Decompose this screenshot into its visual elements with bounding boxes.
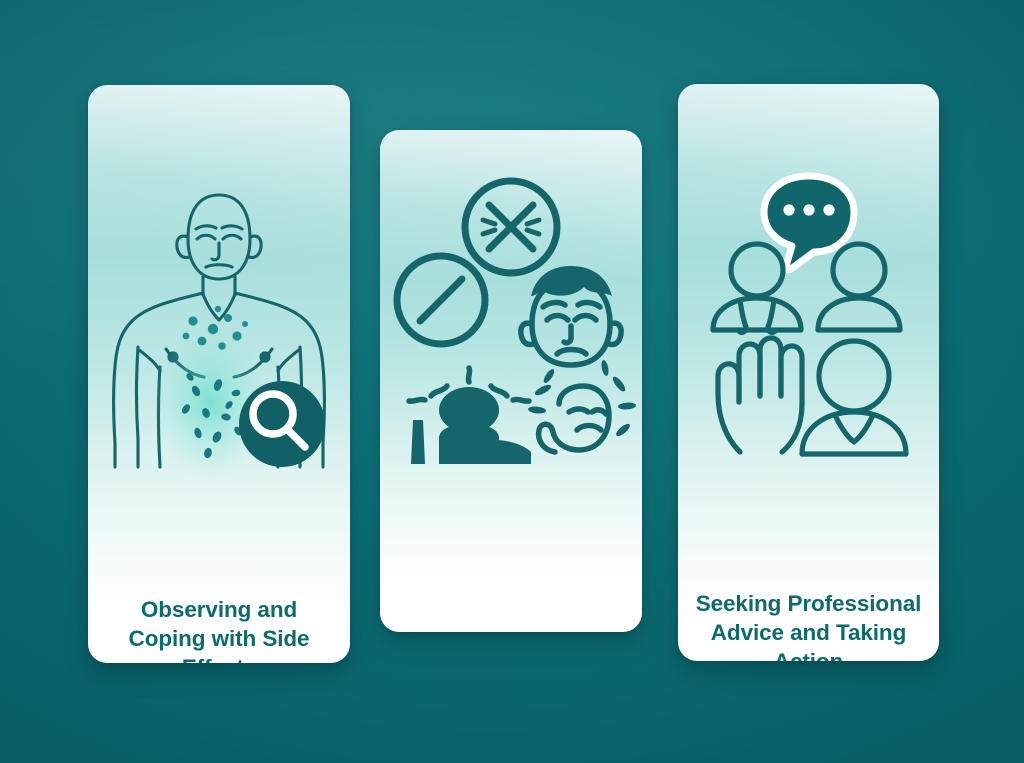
card-3-title: Seeking Professional Advice and Taking A… — [678, 589, 939, 661]
card-3-illustration — [678, 164, 939, 459]
person-outline-icon — [818, 244, 900, 330]
prohibition-slash-circle-icon — [397, 256, 485, 344]
card-1-title: Observing and Coping with Side Effects — [88, 595, 350, 663]
magnifier-badge-icon[interactable] — [239, 381, 325, 467]
card-seeking-professional-advice[interactable]: Seeking Professional Advice and Taking A… — [678, 84, 939, 661]
card-observing-side-effects[interactable]: Observing and Coping with Side Effects — [88, 85, 350, 663]
infographic-canvas: Observing and Coping with Side Effects — [0, 0, 1024, 763]
sad-face-icon — [521, 266, 621, 365]
prohibition-cross-circle-icon — [465, 181, 557, 273]
raised-hand-icon — [718, 338, 802, 452]
headache-person-icon — [409, 368, 531, 464]
torso-detail — [259, 351, 270, 362]
card-1-illustration — [88, 181, 350, 471]
stomach-pain-icon — [528, 360, 637, 452]
human-torso-outline-icon — [100, 181, 338, 471]
card-identification-of-reactions[interactable]: Identification of Reactions — [380, 130, 642, 632]
card-2-illustration — [380, 172, 642, 472]
patient-person-icon — [802, 341, 906, 454]
